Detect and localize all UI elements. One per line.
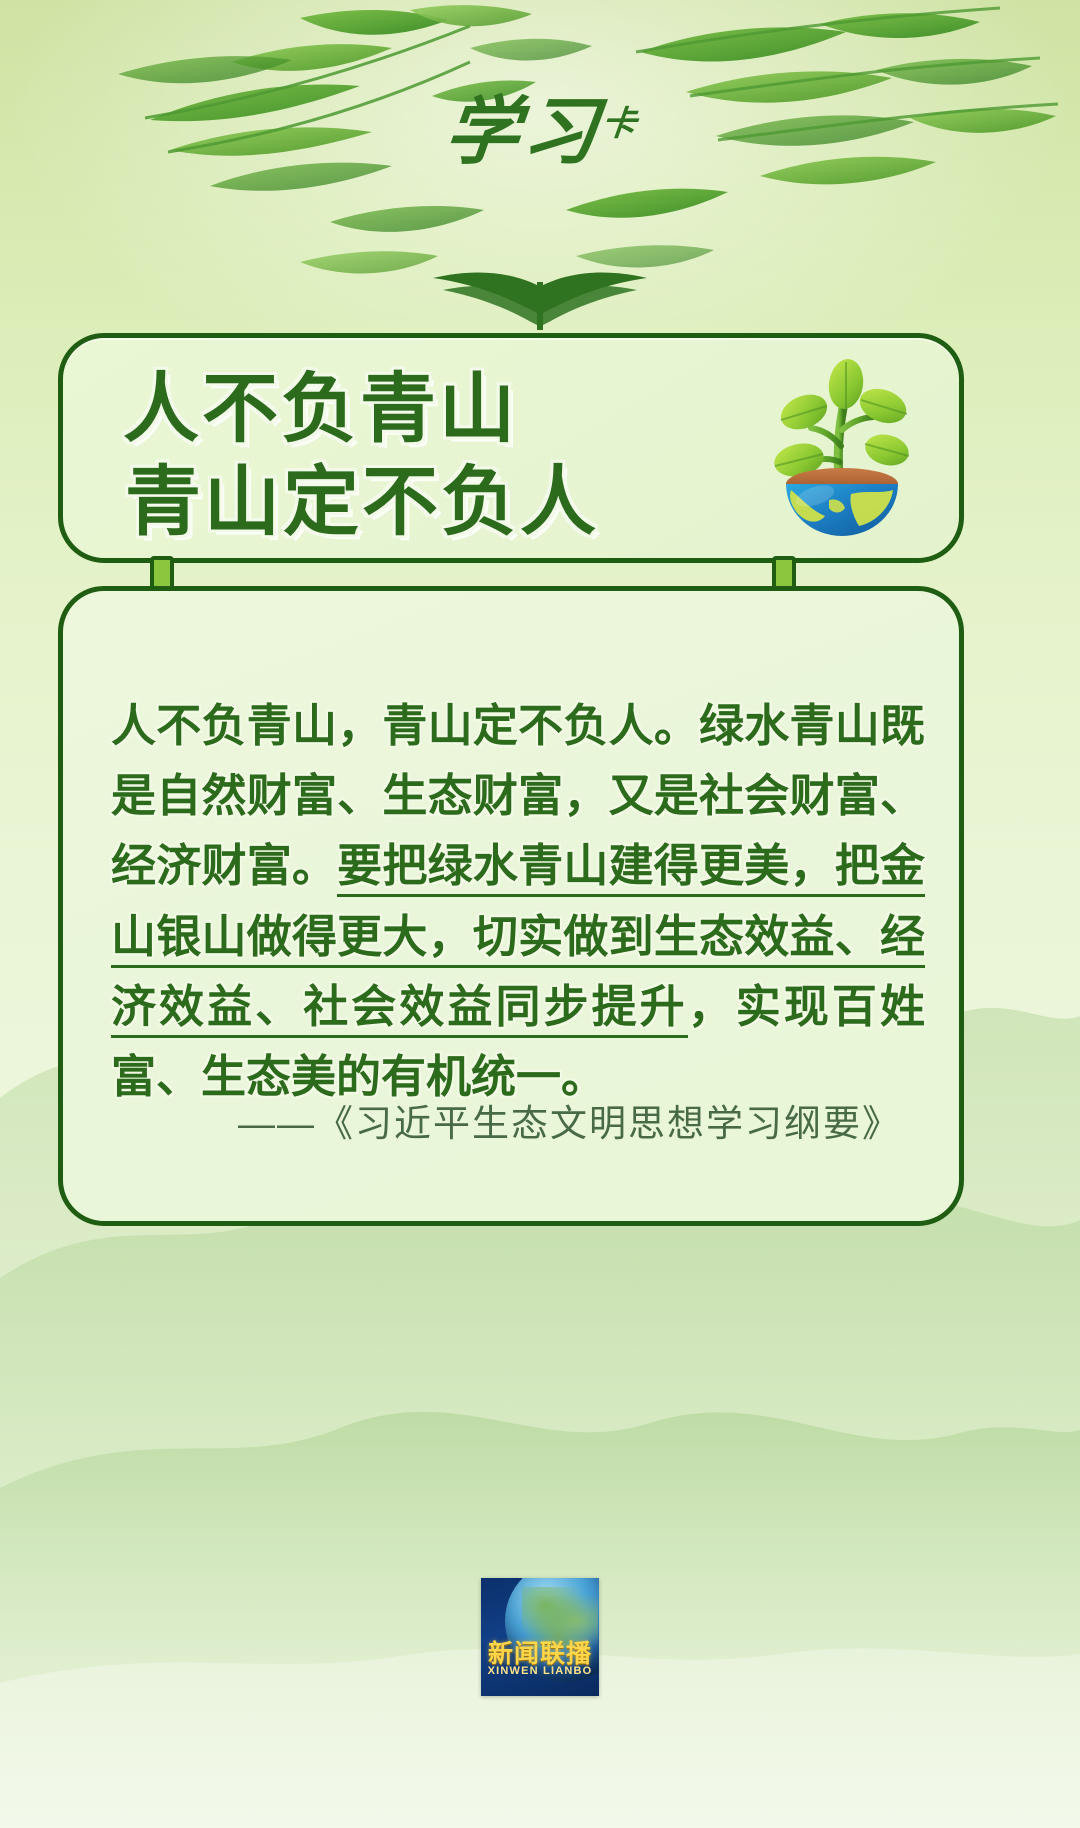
card-connector-right: [772, 556, 796, 590]
open-book-icon: [415, 262, 665, 334]
card-connector-left: [150, 556, 174, 590]
headline-text: 人不负青山 青山定不负人: [123, 364, 599, 549]
brand-logo-text: 学习卡: [441, 96, 639, 170]
quote-source: ——《习近平生态文明思想学习纲要》: [63, 1093, 901, 1147]
quote-card: 人不负青山，青山定不负人。绿水青山既是自然财富、生态财富，又是社会财富、经济财富…: [58, 586, 964, 1226]
channel-name-en: XINWEN LIANBO: [481, 1665, 599, 1677]
poster-root: 学习卡 人不负青山 青山定不负人: [0, 0, 1080, 1828]
quote-text: 人不负青山，青山定不负人。绿水青山既是自然财富、生态财富，又是社会财富、经济财富…: [111, 691, 925, 1112]
headline-line-1: 人不负青山: [123, 364, 599, 457]
headline-line-2: 青山定不负人: [123, 457, 599, 550]
brand-logo-suffix: 卡: [600, 106, 638, 143]
sapling-in-globe-pot-icon: [747, 350, 937, 550]
brand-logo-main: 学习: [441, 92, 606, 174]
xinwen-lianbo-logo: 新闻联播 XINWEN LIANBO: [481, 1578, 599, 1696]
headline-card: 人不负青山 青山定不负人: [58, 333, 964, 563]
brand-logo: 学习卡: [0, 96, 1080, 170]
